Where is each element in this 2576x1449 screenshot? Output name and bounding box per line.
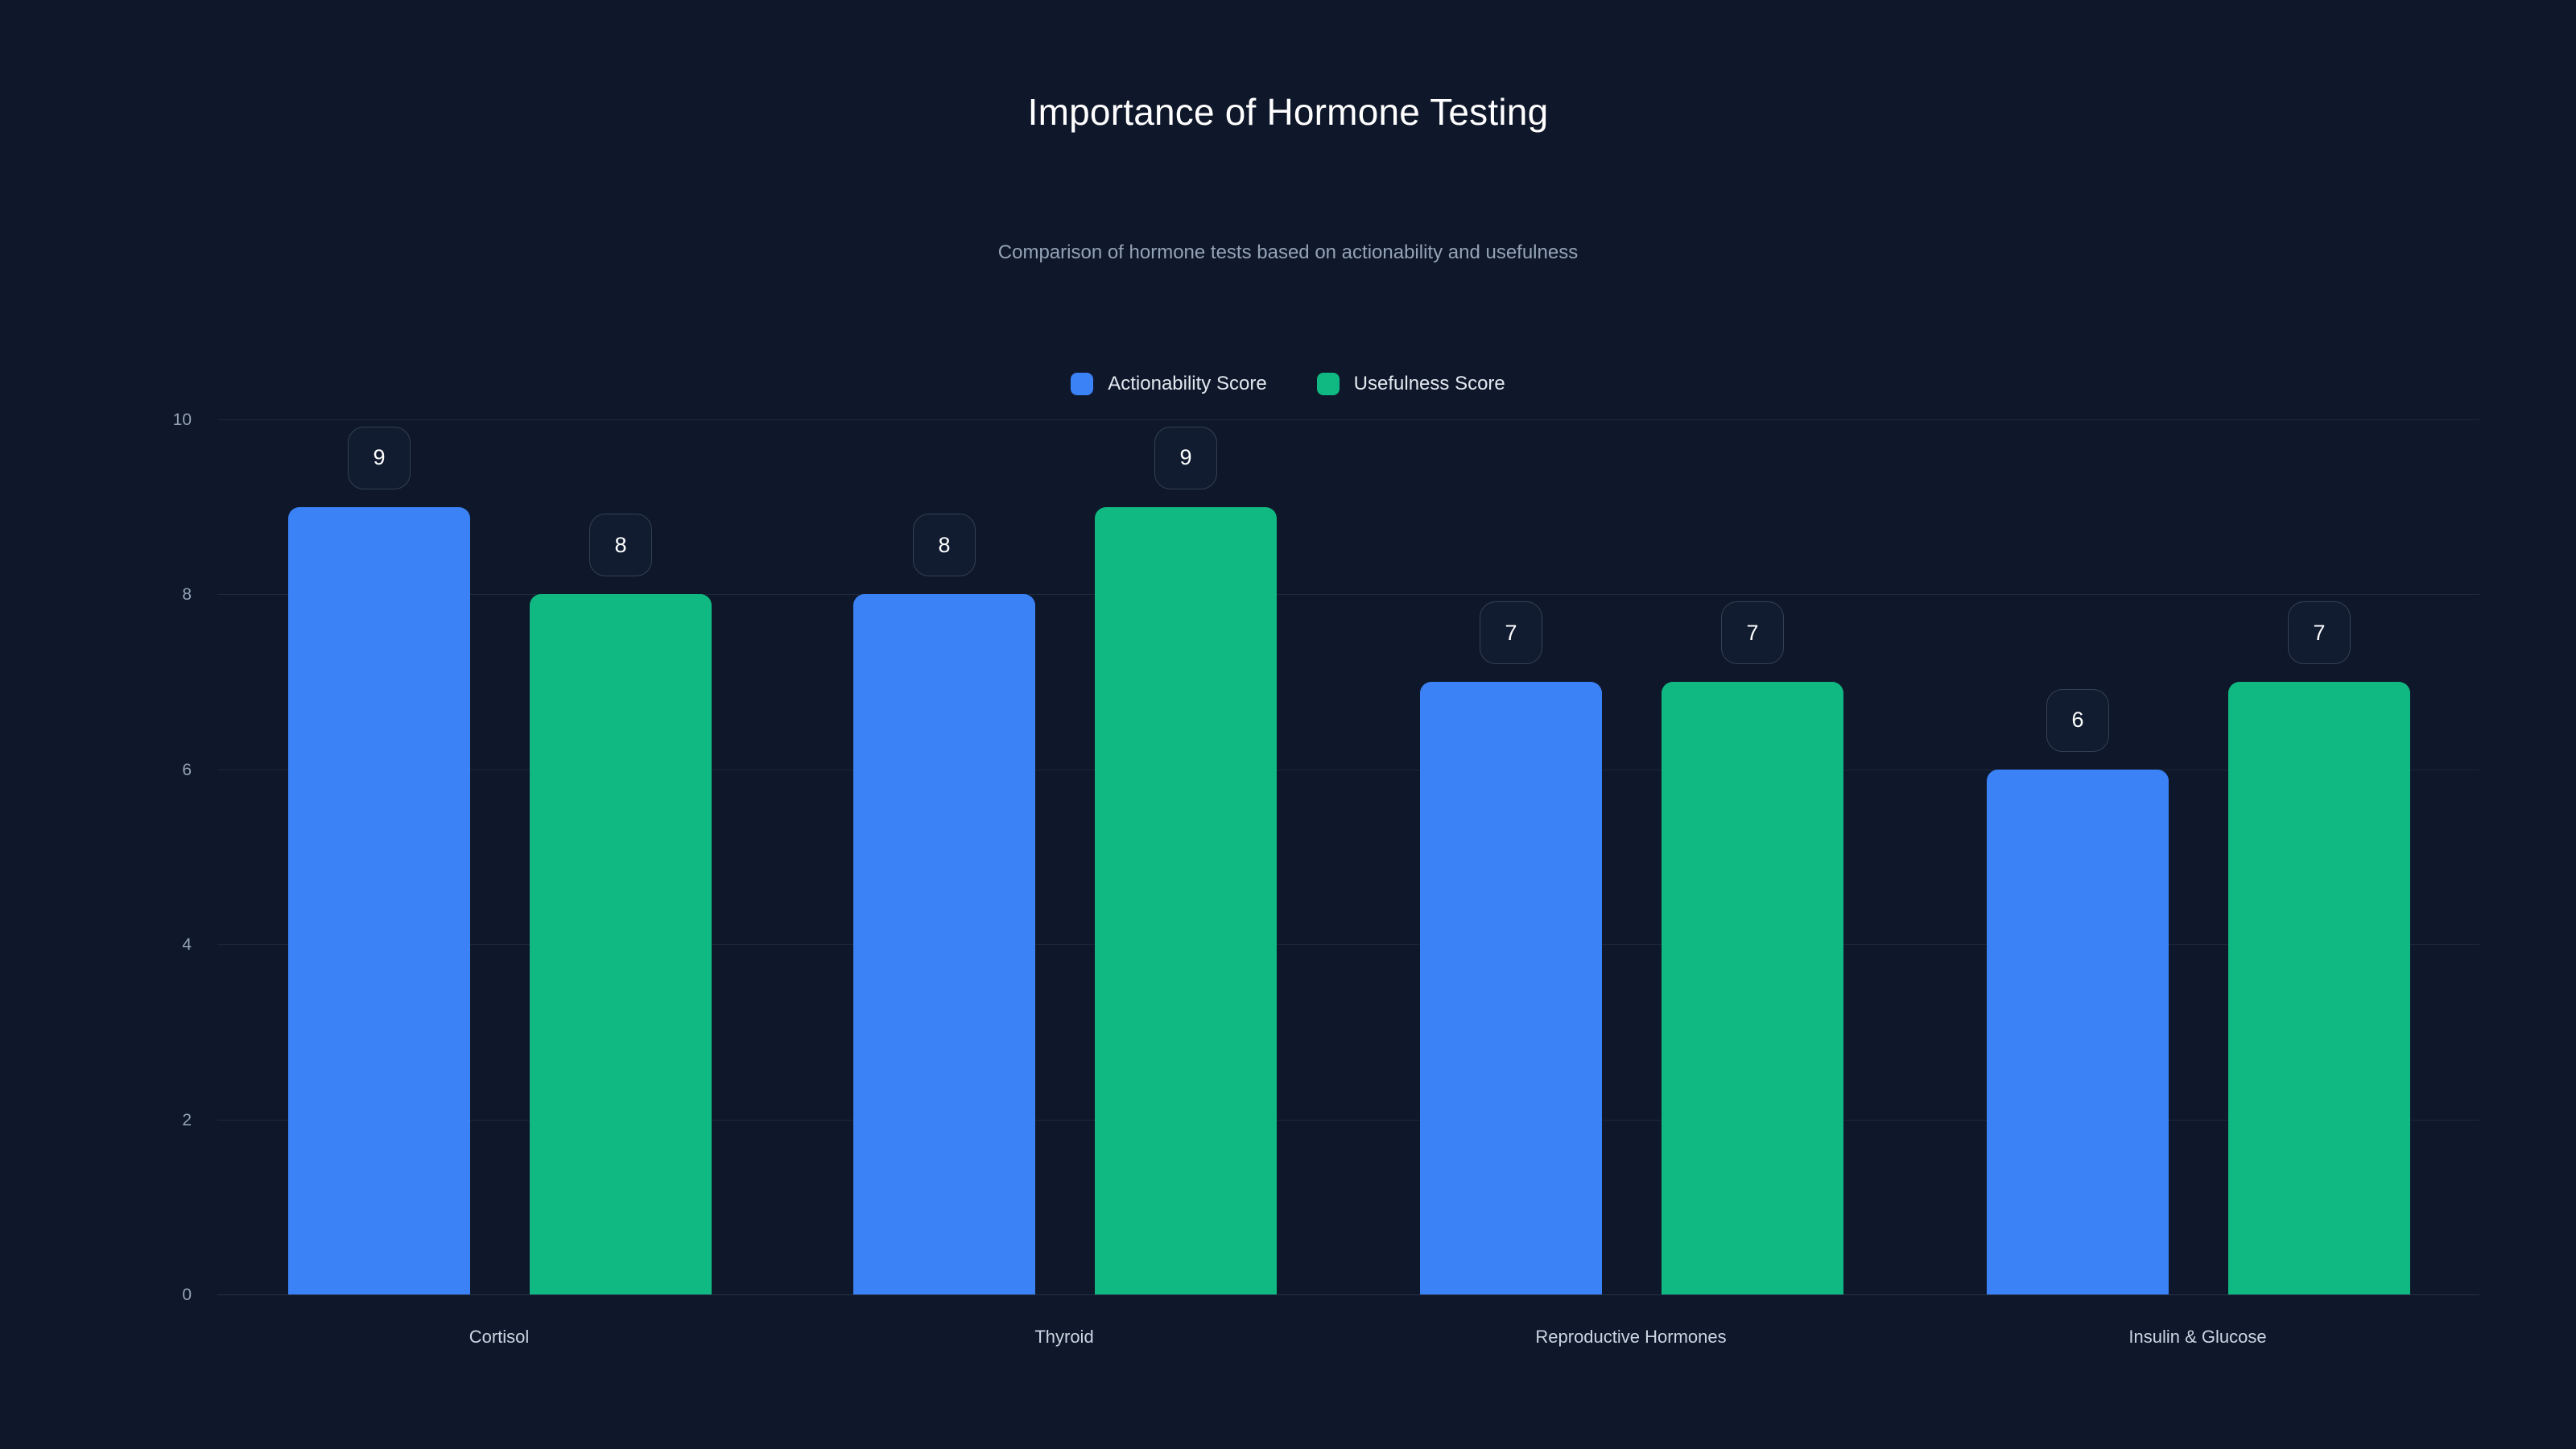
chart-title: Importance of Hormone Testing (0, 90, 2576, 134)
legend-item-label: Usefulness Score (1354, 374, 1505, 394)
x-axis-tick-label: Cortisol (469, 1328, 530, 1346)
legend-item-label: Actionability Score (1108, 374, 1266, 394)
gridline (217, 419, 2479, 420)
y-axis-tick-label: 10 (119, 411, 192, 428)
bar[interactable] (288, 507, 470, 1294)
y-axis-tick-label: 6 (119, 762, 192, 778)
bar[interactable] (1662, 682, 1843, 1294)
plot-area: 98897767 (217, 419, 2479, 1294)
bar[interactable] (1420, 682, 1602, 1294)
gridline (217, 1294, 2479, 1295)
y-axis-tick-label: 8 (119, 586, 192, 603)
y-axis-tick-label: 0 (119, 1286, 192, 1303)
bar-value-label: 6 (2046, 689, 2109, 752)
chart-legend: Actionability ScoreUsefulness Score (0, 373, 2576, 395)
bar-value-label: 9 (348, 427, 411, 489)
bar[interactable] (2228, 682, 2410, 1294)
y-axis-tick-label: 2 (119, 1112, 192, 1129)
bar-value-label: 9 (1154, 427, 1217, 489)
bar-value-label: 8 (589, 514, 652, 576)
chart-subtitle: Comparison of hormone tests based on act… (0, 242, 2576, 265)
square-swatch-icon (1317, 373, 1340, 395)
bar[interactable] (853, 594, 1035, 1294)
bar-value-label: 7 (1480, 601, 1542, 664)
bar[interactable] (1987, 770, 2169, 1294)
legend-item[interactable]: Usefulness Score (1317, 373, 1505, 395)
square-swatch-icon (1071, 373, 1093, 395)
bar[interactable] (1095, 507, 1277, 1294)
x-axis-tick-label: Insulin & Glucose (2128, 1328, 2266, 1346)
legend-item[interactable]: Actionability Score (1071, 373, 1266, 395)
x-axis-tick-label: Reproductive Hormones (1535, 1328, 1726, 1346)
bar-value-label: 7 (1721, 601, 1784, 664)
bar[interactable] (530, 594, 712, 1294)
y-axis-tick-label: 4 (119, 936, 192, 953)
chart-canvas: Importance of Hormone Testing Comparison… (0, 0, 2576, 1449)
x-axis-tick-label: Thyroid (1034, 1328, 1093, 1346)
bar-value-label: 8 (913, 514, 976, 576)
bar-value-label: 7 (2288, 601, 2351, 664)
